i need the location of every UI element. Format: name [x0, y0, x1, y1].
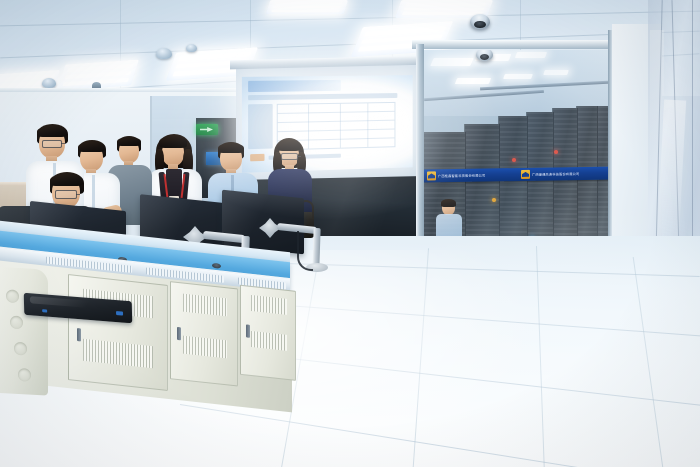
banner-text-right: 广西捷通高速科技股份有限公司	[532, 172, 579, 177]
cabinet-handle-2[interactable]	[177, 327, 181, 340]
eyeglasses	[55, 190, 77, 199]
eyeglasses	[281, 153, 298, 160]
cable-grommet-2	[212, 263, 221, 269]
glass-door-head	[412, 40, 622, 49]
console-cabinet-3[interactable]	[240, 285, 296, 381]
dome-camera-ceiling	[470, 14, 490, 29]
control-room-photo: 广西桂鑫智能科技股份有限公司 广西捷通高速科技股份有限公司	[0, 0, 700, 467]
monitor-cable-3	[297, 231, 313, 271]
banner-text-left: 广西桂鑫智能科技股份有限公司	[438, 173, 485, 178]
banner-unit-right: 广西捷通高速科技股份有限公司	[521, 169, 613, 179]
smoke-detector-2	[156, 48, 172, 59]
company-logo-left	[427, 171, 436, 180]
banner-unit-left: 广西桂鑫智能科技股份有限公司	[427, 170, 519, 180]
laptop-indicator	[116, 311, 123, 316]
console-cabinet-1[interactable]	[68, 274, 168, 391]
company-logo-right	[521, 170, 530, 179]
cabinet-handle-3[interactable]	[246, 324, 250, 337]
slide-nav-bar	[248, 93, 397, 100]
slide-header-bar	[248, 80, 341, 92]
smoke-detector-3	[186, 44, 197, 52]
laptop-indicator-2	[42, 309, 47, 312]
eyeglasses	[42, 140, 62, 148]
cabinet-handle-1[interactable]	[77, 328, 81, 341]
panel-light-6	[266, 0, 349, 14]
console-cabinet-2[interactable]	[170, 281, 238, 386]
smoke-detector-1	[42, 78, 56, 88]
desk-end-panel	[0, 266, 48, 395]
